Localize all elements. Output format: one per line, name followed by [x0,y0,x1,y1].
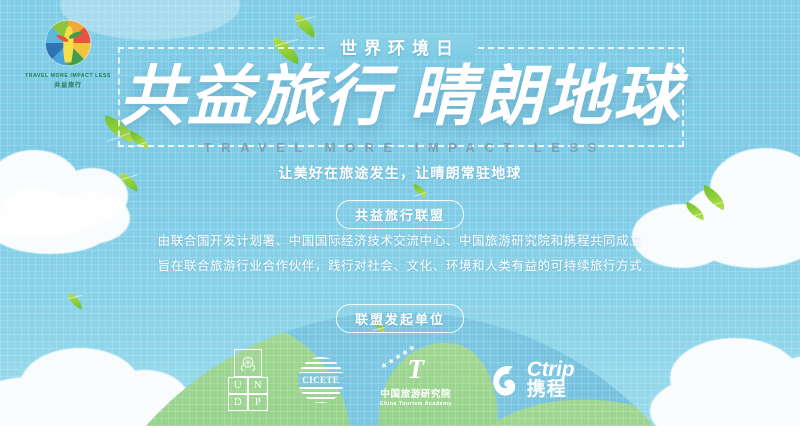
ctrip-logo-icon: Ctrip 携程 [488,360,575,400]
leaf-icon [65,293,86,310]
brand-logo-chinese: 共益旅行 [24,80,112,89]
undp-emblem-icon [234,349,262,377]
cta-mark: ★★★★★ T [372,353,460,385]
undp-logo-icon: U N D P [226,349,270,411]
founder-logo-undp: U N D P [226,349,270,411]
founder-logo-china-tourism-academy: ★★★★★ T 中国旅游研究院 China Tourism Academy [372,353,460,407]
alliance-name-badge: 共益旅行联盟 [336,200,464,229]
page-title-left: 共益旅行 [119,59,391,133]
ctrip-dolphin-icon [488,362,522,398]
travel-impact-circle-logo-icon [41,16,95,70]
undp-letter: P [248,394,268,411]
founder-logo-ctrip: Ctrip 携程 [488,360,575,400]
founder-logo-cicete: CICETE [298,357,344,403]
undp-letter: D [228,394,248,411]
page-title-english: TRAVEL MORE IMPACT LESS [0,140,800,155]
undp-letter-grid: U N D P [228,377,268,411]
founders-heading-badge: 联盟发起单位 [336,304,464,333]
cicete-logo-icon: CICETE [298,357,344,403]
alliance-description: 由联合国开发计划署、中国国际经济技术交流中心、中国旅游研究院和携程共同成立 旨在… [0,232,800,282]
page-title: 共益旅行晴朗地球 [0,56,800,136]
cicete-logo-text: CICETE [298,373,344,387]
brand-logo-english: TRAVEL MORE IMPACT LESS [24,73,112,79]
tagline: 让美好在旅途发生，让晴朗常驻地球 [0,163,800,183]
ctrip-chinese-name: 携程 [527,380,575,400]
alliance-paragraph: 旨在联合旅游行业合作伙伴，践行对社会、文化、环境和人类有益的可持续旅行方式 [0,257,800,275]
cta-english-name: China Tourism Academy [372,401,460,407]
ctrip-wordmark: Ctrip 携程 [527,360,575,400]
china-tourism-academy-logo-icon: ★★★★★ T 中国旅游研究院 China Tourism Academy [372,353,460,407]
founder-logos-row: U N D P CICETE ★★★★★ T 中国旅游研究院 China Tou… [0,344,800,416]
un-wreath-icon [238,353,258,373]
undp-letter: U [228,377,248,394]
ctrip-english-name: Ctrip [527,360,575,380]
brand-logo: TRAVEL MORE IMPACT LESS 共益旅行 [24,16,112,89]
undp-letter: N [248,377,268,394]
leaf-icon [411,184,429,198]
alliance-paragraph: 由联合国开发计划署、中国国际经济技术交流中心、中国旅游研究院和携程共同成立 [0,232,800,250]
world-environment-day-poster: TRAVEL MORE IMPACT LESS 共益旅行 世界环境日 共益旅行晴… [0,0,800,426]
cta-letter-t: T [408,356,425,383]
page-title-right: 晴朗地球 [409,59,681,133]
cta-chinese-name: 中国旅游研究院 [372,386,460,400]
